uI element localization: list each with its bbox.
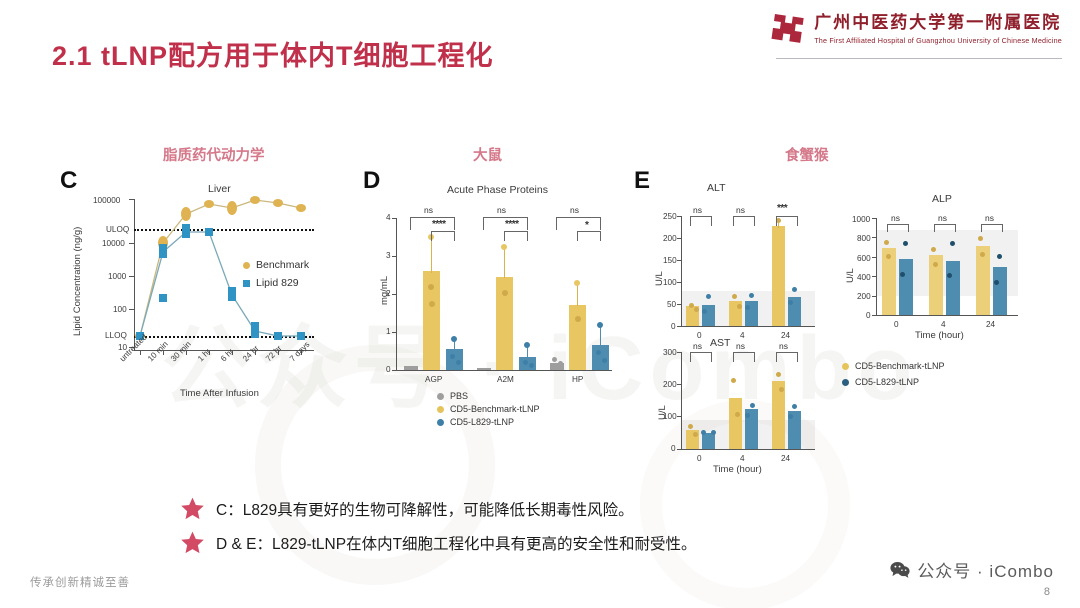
panel-e-point <box>978 236 983 241</box>
panel-d-sig-a2m-stars: **** <box>505 219 519 230</box>
panel-d-point <box>529 363 534 368</box>
benchmark-tlnp-marker-icon <box>842 363 849 370</box>
panel-e-ast-y-axis <box>681 352 682 449</box>
panel-d-point <box>429 301 435 307</box>
panel-e-alt-xtick-0: 0 <box>697 331 702 340</box>
panel-e-ast-xtick-4: 4 <box>740 454 745 463</box>
footer-wechat-text: 公众号 · iCombo <box>917 557 1054 582</box>
panel-d-err-hp-benchmark <box>577 283 578 306</box>
panel-e-alp-title: ALP <box>932 193 952 205</box>
hospital-cross-icon <box>771 12 805 46</box>
panel-e-ast-ytickmark-0 <box>677 449 681 450</box>
footer-wechat: 公众号 · iCombo <box>890 557 1054 582</box>
panel-c-ytick-4: 100 <box>113 305 127 314</box>
panel-e-point <box>735 412 740 417</box>
pbs-marker-icon <box>437 393 444 400</box>
panel-e-alt-ytickmark-5 <box>677 216 681 217</box>
l829-tlnp-marker-icon <box>437 419 444 426</box>
panel-d-bar-a2m-pbs <box>477 368 491 370</box>
panel-e-alp-bracket-24 <box>981 224 1003 232</box>
panel-d-sig-agp-stars: **** <box>432 219 446 230</box>
panel-e-point <box>788 414 793 419</box>
panel-d-cn-subtitle: 大鼠 <box>473 144 502 165</box>
panel-e-ast-ytick-3: 300 <box>663 348 677 357</box>
panel-e-point <box>694 307 699 312</box>
panel-e-legend-item-benchmark: CD5-Benchmark-tLNP <box>842 361 945 371</box>
panel-e-alp-ytick-0: 0 <box>866 311 871 320</box>
panel-e-alp-ytickmark-2 <box>872 276 876 277</box>
panel-e-alt-ytickmark-1 <box>677 304 681 305</box>
panel-d-point <box>502 290 508 296</box>
panel-e-point <box>947 273 952 278</box>
panel-e-ast-xtick-24: 24 <box>781 454 790 463</box>
benchmark-marker-icon <box>243 262 250 269</box>
panel-d-point <box>456 360 461 365</box>
panel-d-point <box>451 336 457 342</box>
panel-e-point <box>884 240 889 245</box>
panel-e-alt-ytick-4: 200 <box>663 234 677 243</box>
panel-d-bar-agp-pbs <box>404 366 418 370</box>
panel-c-legend-item-benchmark: Benchmark <box>243 259 309 271</box>
panel-e-alt-sig-24: *** <box>777 203 787 214</box>
conclusion-bullets: C：L829具有更好的生物可降解性，可能降低长期毒性风险。 D & E：L829… <box>180 496 697 564</box>
panel-e-alt-xtick-4: 4 <box>740 331 745 340</box>
panel-e-point <box>886 254 891 259</box>
panel-e-legend-item-l829: CD5-L829-tLNP <box>842 377 919 387</box>
panel-e-alt-y-axis <box>681 216 682 326</box>
panel-d-bracket-hp-ns <box>556 217 601 230</box>
panel-e-ast-x-axis <box>681 449 815 450</box>
bullet-item: C：L829具有更好的生物可降解性，可能降低长期毒性风险。 <box>180 496 697 521</box>
header-divider <box>776 58 1062 59</box>
panel-e-alp-xtick-0: 0 <box>894 320 899 329</box>
panel-e-alt-ytick-2: 100 <box>663 278 677 287</box>
panel-e-point <box>788 300 793 305</box>
panel-e-point <box>745 305 750 310</box>
panel-e-alp-xtick-24: 24 <box>986 320 995 329</box>
panel-e-alp-x-axis <box>876 315 1018 316</box>
panel-c-legend-label-1: Lipid 829 <box>256 277 299 289</box>
panel-e-ast-bracket-24 <box>776 352 798 362</box>
panel-e-ast-sig-24: ns <box>779 341 788 351</box>
panel-e-legend-label-1: CD5-L829-tLNP <box>855 377 919 387</box>
panel-c-legend-item-lipid829: Lipid 829 <box>243 277 299 289</box>
panel-d-err-hp-l829 <box>600 325 601 346</box>
lipid829-marker-icon <box>243 280 250 287</box>
panel-e-alt-ytick-1: 50 <box>667 300 676 309</box>
panel-e-cn-subtitle: 食蟹猴 <box>785 144 829 165</box>
panel-e-alp-bracket-4 <box>934 224 956 232</box>
panel-e-ast-bar-0-l829 <box>702 433 715 449</box>
hospital-logo: 广州中医药大学第一附属医院 The First Affiliated Hospi… <box>771 12 1062 46</box>
panel-e-alp-bar-24-l829 <box>993 267 1007 315</box>
panel-d-ytick-4: 4 <box>386 213 391 222</box>
panel-d-point <box>450 354 455 359</box>
panel-c-xlabel: Time After Infusion <box>180 388 259 399</box>
panel-e-alt-xtick-24: 24 <box>781 331 790 340</box>
panel-c-plot-area <box>134 190 324 355</box>
panel-d-legend-label-1: CD5-Benchmark-tLNP <box>450 404 540 414</box>
bullet-text: C：L829具有更好的生物可降解性，可能降低长期毒性风险。 <box>216 498 634 520</box>
panel-d-ytick-1: 1 <box>386 327 391 336</box>
panel-d-point <box>597 322 603 328</box>
panel-e-point <box>903 241 908 246</box>
panel-e-point <box>779 387 784 392</box>
panel-e-ast-title: AST <box>710 337 730 349</box>
star-icon <box>180 530 205 555</box>
panel-d-bar-hp-benchmark <box>569 305 586 370</box>
panel-e-point <box>931 247 936 252</box>
wechat-icon <box>890 561 910 578</box>
panel-e-point <box>689 303 694 308</box>
panel-e-point <box>750 403 755 408</box>
panel-e-ast-sig-0: ns <box>693 341 702 351</box>
slide-root: 公众号 · iCombo 2.1 tLNP配方用于体内T细胞工程化 广州中医药大… <box>0 0 1080 608</box>
panel-d-point <box>524 342 530 348</box>
panel-e-alp-xlabel: Time (hour) <box>915 330 964 341</box>
panel-d-bracket-hp-star <box>577 231 601 241</box>
panel-e-alp-sig-4: ns <box>938 213 947 223</box>
panel-e-point <box>933 262 938 267</box>
panel-e-alp-ylabel: U/L <box>845 268 856 283</box>
panel-d-err-a2m-benchmark <box>504 247 505 278</box>
panel-letter-c: C <box>60 167 77 195</box>
panel-e-alt-sig-4: ns <box>736 205 745 215</box>
panel-e-ast-xtick-0: 0 <box>697 454 702 463</box>
panel-e-alt-ytickmark-3 <box>677 260 681 261</box>
panel-d-bar-agp-l829 <box>446 349 463 370</box>
panel-e-alp-ytickmark-1 <box>872 296 876 297</box>
panel-e-alt-bracket-0 <box>690 216 712 226</box>
panel-d-sig-a2m-ns: ns <box>497 205 506 215</box>
panel-e-alp-bar-4-l829 <box>946 261 960 315</box>
panel-c-ytick-5: LLOQ <box>105 331 127 340</box>
panel-e-alp-ytick-2: 400 <box>857 273 871 282</box>
panel-e-ast-bracket-0 <box>690 352 712 362</box>
panel-e-alp-ytickmark-5 <box>872 218 876 219</box>
panel-c-cn-subtitle: 脂质药代动力学 <box>163 144 265 165</box>
panel-d-sig-hp-ns: ns <box>570 205 579 215</box>
panel-e-alt-ytickmark-2 <box>677 282 681 283</box>
panel-e-alt-title: ALT <box>707 182 725 194</box>
panel-e-ast-ytickmark-2 <box>677 384 681 385</box>
panel-d-legend-item-benchmark: CD5-Benchmark-tLNP <box>437 404 540 414</box>
panel-e-alp-ytick-5: 1000 <box>852 215 870 224</box>
panel-d-sig-hp-star: * <box>585 220 588 231</box>
panel-e-point <box>749 293 754 298</box>
panel-d-legend-item-pbs: PBS <box>437 391 468 401</box>
panel-e-point <box>693 432 698 437</box>
panel-d-ytick-0: 0 <box>386 365 391 374</box>
panel-d-legend-label-0: PBS <box>450 391 468 401</box>
panel-e-alp-ytick-1: 200 <box>857 292 871 301</box>
bullet-item: D & E：L829-tLNP在体内T细胞工程化中具有更高的安全性和耐受性。 <box>180 530 697 555</box>
panel-d-legend-label-2: CD5-L829-tLNP <box>450 417 514 427</box>
panel-e-alp-ytickmark-4 <box>872 237 876 238</box>
panel-d-bar-hp-l829 <box>592 345 609 370</box>
panel-e-ast-ytick-0: 0 <box>671 444 676 453</box>
panel-d-sig-agp-ns: ns <box>424 205 433 215</box>
panel-d-xtick-hp: HP <box>572 375 583 384</box>
panel-d-ytick-2: 2 <box>386 289 391 298</box>
star-icon <box>180 496 205 521</box>
panel-d-point <box>602 358 607 363</box>
panel-d-point <box>558 361 563 366</box>
panel-e-alt-sig-0: ns <box>693 205 702 215</box>
panel-e-alt-bracket-4 <box>733 216 755 226</box>
panel-e-ast-sig-4: ns <box>736 341 745 351</box>
panel-e-alp-ytick-3: 600 <box>857 254 871 263</box>
page-title: 2.1 tLNP配方用于体内T细胞工程化 <box>52 34 494 73</box>
panel-e-alp-xtick-4: 4 <box>941 320 946 329</box>
panel-c-ytick-3: 1000 <box>108 272 126 281</box>
panel-e-ast-xlabel: Time (hour) <box>713 464 762 475</box>
panel-e-alp-sig-24: ns <box>985 213 994 223</box>
panel-e-ast-ytickmark-3 <box>677 352 681 353</box>
panel-e-alp-bar-0-l829 <box>899 259 913 315</box>
panel-d-point <box>523 360 528 365</box>
panel-e-alt-ytick-5: 250 <box>663 212 677 221</box>
hospital-name-block: 广州中医药大学第一附属医院 The First Affiliated Hospi… <box>814 13 1062 45</box>
panel-e-point <box>706 294 711 299</box>
panel-d-x-axis <box>396 370 612 371</box>
panel-e-point <box>688 424 693 429</box>
panel-e-alp-ytickmark-3 <box>872 257 876 258</box>
panel-d-ytickmark-3 <box>392 256 397 257</box>
panel-d-point <box>574 280 580 286</box>
panel-c-legend-label-0: Benchmark <box>256 259 309 271</box>
panel-e-ast-bracket-4 <box>733 352 755 362</box>
panel-e-alp-ytickmark-0 <box>872 315 876 316</box>
panel-e-ast-bar-4-benchmark <box>729 398 742 449</box>
panel-d-xtick-a2m: A2M <box>497 375 514 384</box>
panel-e-point <box>792 404 797 409</box>
panel-e-alt-ytick-3: 150 <box>663 256 677 265</box>
panel-e-point <box>994 280 999 285</box>
footer-slogan: 传承创新精诚至善 <box>30 574 130 590</box>
panel-e-point <box>745 413 750 418</box>
panel-e-point <box>732 294 737 299</box>
panel-e-alt-ytick-0: 0 <box>671 322 676 331</box>
panel-d-ytickmark-1 <box>392 332 397 333</box>
panel-c-ytick-1: ULOQ <box>106 225 129 234</box>
panel-letter-e: E <box>634 167 650 195</box>
panel-e-point <box>776 372 781 377</box>
panel-e-alp-sig-0: ns <box>891 213 900 223</box>
panel-e-alp-y-axis <box>876 218 877 315</box>
panel-d-ytick-3: 3 <box>386 251 391 260</box>
panel-e-point <box>950 241 955 246</box>
panel-e-alp-bracket-0 <box>887 224 909 232</box>
panel-d-point <box>552 357 557 362</box>
hospital-name-en: The First Affiliated Hospital of Guangzh… <box>814 36 1062 45</box>
panel-e-point <box>997 254 1002 259</box>
panel-e-point <box>701 430 706 435</box>
panel-d-point <box>501 244 507 250</box>
page-number: 8 <box>1044 586 1050 598</box>
panel-e-alt-ytickmark-4 <box>677 238 681 239</box>
panel-d-err-agp-benchmark <box>431 237 432 273</box>
benchmark-tlnp-marker-icon <box>437 406 444 413</box>
hospital-name-cn: 广州中医药大学第一附属医院 <box>814 13 1062 33</box>
panel-e-alt-ytickmark-0 <box>677 326 681 327</box>
panel-e-point <box>737 304 742 309</box>
panel-e-ast-ytick-1: 100 <box>663 412 677 421</box>
panel-letter-d: D <box>363 167 380 195</box>
panel-e-alt-x-axis <box>681 326 815 327</box>
panel-e-point <box>980 252 985 257</box>
panel-e-point <box>731 378 736 383</box>
panel-e-alt-bracket-24 <box>776 216 798 226</box>
panel-e-legend-label-0: CD5-Benchmark-tLNP <box>855 361 945 371</box>
panel-d-point <box>575 316 581 322</box>
panel-d-ytickmark-4 <box>392 218 397 219</box>
panel-e-point <box>792 287 797 292</box>
panel-d-bracket-a2m-stars <box>504 231 528 241</box>
panel-d-ytickmark-2 <box>392 294 397 295</box>
panel-c-ytick-0: 100000 <box>93 196 120 205</box>
panel-c-ytick-2: 10000 <box>102 239 125 248</box>
panel-d-title: Acute Phase Proteins <box>447 184 548 196</box>
panel-e-ast-ytickmark-1 <box>677 416 681 417</box>
panel-d-ytickmark-0 <box>392 370 397 371</box>
panel-e-alt-bar-24-benchmark <box>772 226 785 326</box>
panel-d-legend-item-l829: CD5-L829-tLNP <box>437 417 514 427</box>
panel-d-point <box>596 350 601 355</box>
panel-e-point <box>711 430 716 435</box>
panel-e-point <box>702 309 707 314</box>
panel-e-point <box>900 272 905 277</box>
panel-e-alp-ytick-4: 800 <box>857 234 871 243</box>
l829-tlnp-marker-icon <box>842 379 849 386</box>
panel-d-bracket-agp-stars <box>431 231 455 241</box>
panel-d-point <box>428 284 434 290</box>
panel-e-ast-ytick-2: 200 <box>663 380 677 389</box>
panel-c-ylabel: Lipid Concentration (ng/g) <box>72 227 83 336</box>
bullet-text: D & E：L829-tLNP在体内T细胞工程化中具有更高的安全性和耐受性。 <box>216 532 697 554</box>
panel-d-xtick-agp: AGP <box>425 375 442 384</box>
